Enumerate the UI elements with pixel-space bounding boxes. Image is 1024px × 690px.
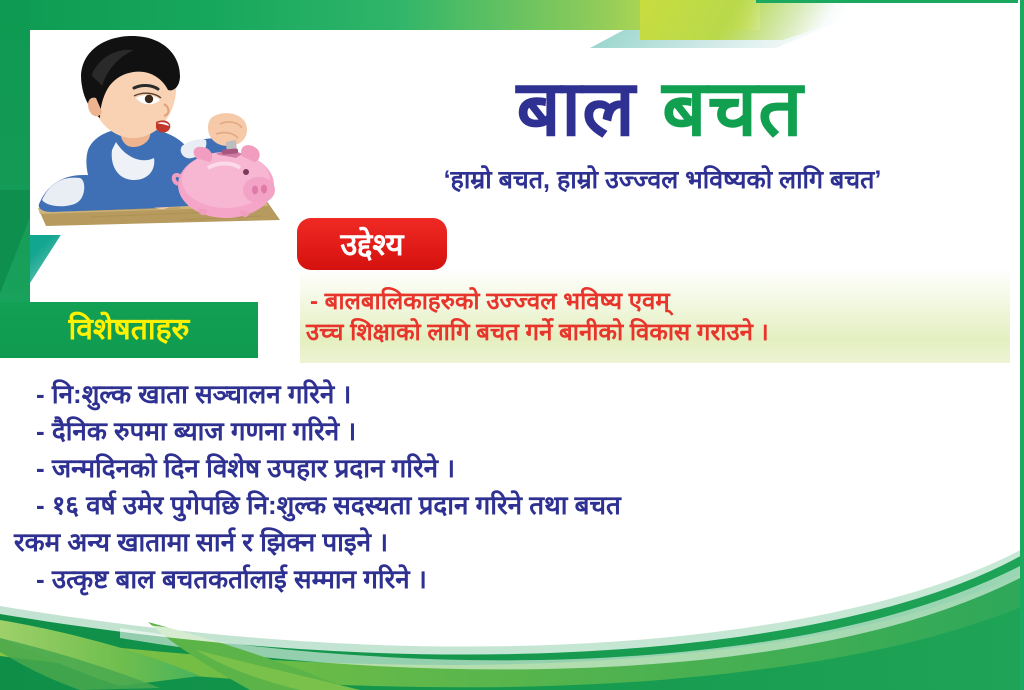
feature-text: - दैनिक रुपमा ब्याज गणना गरिने । bbox=[36, 416, 356, 446]
right-green-border bbox=[1020, 0, 1024, 690]
title-word-bachat: बचत bbox=[662, 64, 804, 152]
list-item: - १६ वर्ष उमेर पुगेपछि नि:शुल्क सदस्यता … bbox=[36, 487, 966, 561]
right-white-gap bbox=[1018, 0, 1020, 120]
top-lime-wedge bbox=[640, 0, 900, 40]
baal-bachat-poster: बालबचत ‘हाम्रो बचत, हाम्रो उज्ज्वल भविष्… bbox=[0, 0, 1024, 690]
features-band-label: विशेषताहरु bbox=[69, 315, 190, 345]
feature-text: - १६ वर्ष उमेर पुगेपछि नि:शुल्क सदस्यता … bbox=[36, 490, 621, 520]
objective-line-1: - बालबालिकाहरुको उज्ज्वल भविष्य एवम् bbox=[310, 286, 1010, 317]
objective-badge: उद्देश्य bbox=[297, 218, 447, 270]
boy-with-piggy-bank-illustration bbox=[30, 30, 298, 235]
feature-text: - उत्कृष्ट बाल बचतकर्तालाई सम्मान गरिने … bbox=[36, 564, 427, 594]
list-item: - नि:शुल्क खाता सञ्चालन गरिने । bbox=[36, 376, 966, 413]
list-item: - उत्कृष्ट बाल बचतकर्तालाई सम्मान गरिने … bbox=[36, 561, 966, 598]
features-list: - नि:शुल्क खाता सञ्चालन गरिने । - दैनिक … bbox=[36, 376, 966, 597]
feature-text: - जन्मदिनको दिन विशेष उपहार प्रदान गरिने… bbox=[36, 453, 455, 483]
objective-text: - बालबालिकाहरुको उज्ज्वल भविष्य एवम् उच्… bbox=[310, 286, 1010, 348]
features-band: विशेषताहरु bbox=[0, 302, 258, 358]
page-title: बालबचत bbox=[330, 52, 990, 158]
top-hairline bbox=[756, 0, 1024, 3]
objective-badge-label: उद्देश्य bbox=[340, 229, 403, 260]
feature-text: - नि:शुल्क खाता सञ्चालन गरिने । bbox=[36, 379, 351, 409]
list-item: - दैनिक रुपमा ब्याज गणना गरिने । bbox=[36, 413, 966, 450]
objective-line-2: उच्च शिक्षाको लागि बचत गर्ने बानीको विका… bbox=[306, 317, 1010, 348]
feature-text-continued: रकम अन्य खातामा सार्न र झिक्न पाइने । bbox=[14, 524, 966, 561]
title-word-baal: बाल bbox=[516, 64, 636, 152]
tagline: ‘हाम्रो बचत, हाम्रो उज्ज्वल भविष्यको लाग… bbox=[330, 162, 995, 196]
list-item: - जन्मदिनको दिन विशेष उपहार प्रदान गरिने… bbox=[36, 450, 966, 487]
